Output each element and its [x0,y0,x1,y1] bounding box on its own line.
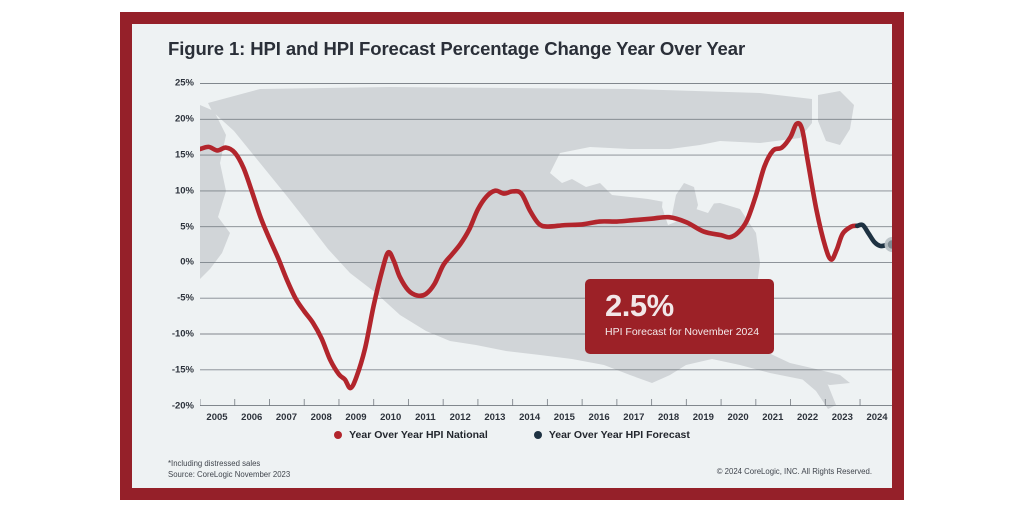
chart-legend: Year Over Year HPI NationalYear Over Yea… [132,429,892,441]
legend-circle-icon [534,431,542,439]
page-title: Figure 1: HPI and HPI Forecast Percentag… [168,38,745,60]
callout-value: 2.5% [605,289,774,323]
legend-item[interactable]: Year Over Year HPI National [334,429,488,441]
x-axis-tick-label: 2019 [693,412,714,423]
x-axis-tick-label: 2005 [206,412,227,423]
x-axis-tick-label: 2021 [762,412,783,423]
x-axis-tick-label: 2017 [623,412,644,423]
figure-frame: Figure 1: HPI and HPI Forecast Percentag… [120,12,904,500]
y-axis-tick-label: 10% [175,185,194,196]
legend-item-label: Year Over Year HPI Forecast [549,429,690,441]
legend-item-label: Year Over Year HPI National [349,429,488,441]
x-axis-tick-label: 2023 [832,412,853,423]
x-axis-tick-label: 2022 [797,412,818,423]
y-axis-tick-label: 15% [175,149,194,160]
x-axis-tick-label: 2008 [311,412,332,423]
figure-canvas: Figure 1: HPI and HPI Forecast Percentag… [132,24,892,488]
x-axis-tick-label: 2011 [415,412,436,423]
copyright-notice: © 2024 CoreLogic, INC. All Rights Reserv… [717,467,872,476]
y-axis-tick-label: -10% [172,329,194,340]
y-axis-tick-label: 5% [180,221,194,232]
y-axis-tick-label: 20% [175,113,194,124]
y-axis-tick-label: -20% [172,401,194,412]
figure-container: Figure 1: HPI and HPI Forecast Percentag… [0,0,1024,512]
footnote-distressed-sales: *Including distressed sales [168,458,290,469]
x-axis-tick-label: 2010 [380,412,401,423]
x-axis-tick-label: 2018 [658,412,679,423]
x-axis-labels: 2005200620072008200920102011201220132014… [200,412,892,430]
x-axis-tick-label: 2014 [519,412,540,423]
y-axis-tick-label: 25% [175,78,194,89]
y-axis-tick-label: -15% [172,365,194,376]
plot-area [200,83,892,406]
y-axis-tick-label: 0% [180,257,194,268]
x-axis-tick-label: 2007 [276,412,297,423]
footnote-source: Source: CoreLogic November 2023 [168,469,290,480]
footnotes: *Including distressed sales Source: Core… [168,458,290,480]
x-axis-tick-label: 2016 [589,412,610,423]
x-axis-tick-label: 2009 [345,412,366,423]
y-axis-tick-label: -5% [177,293,194,304]
forecast-callout-box: 2.5% HPI Forecast for November 2024 [585,279,774,354]
x-axis-tick-label: 2013 [484,412,505,423]
legend-item[interactable]: Year Over Year HPI Forecast [534,429,690,441]
y-axis-labels: 25%20%15%10%5%0%-5%-10%-15%-20% [146,83,194,406]
x-axis-tick-label: 2006 [241,412,262,423]
x-axis-tick-label: 2015 [554,412,575,423]
callout-label: HPI Forecast for November 2024 [605,326,774,338]
legend-circle-icon [334,431,342,439]
x-axis-tick-label: 2024 [866,412,887,423]
x-axis-tick-label: 2012 [450,412,471,423]
x-axis-tick-label: 2020 [728,412,749,423]
data-series-lines [200,83,892,406]
